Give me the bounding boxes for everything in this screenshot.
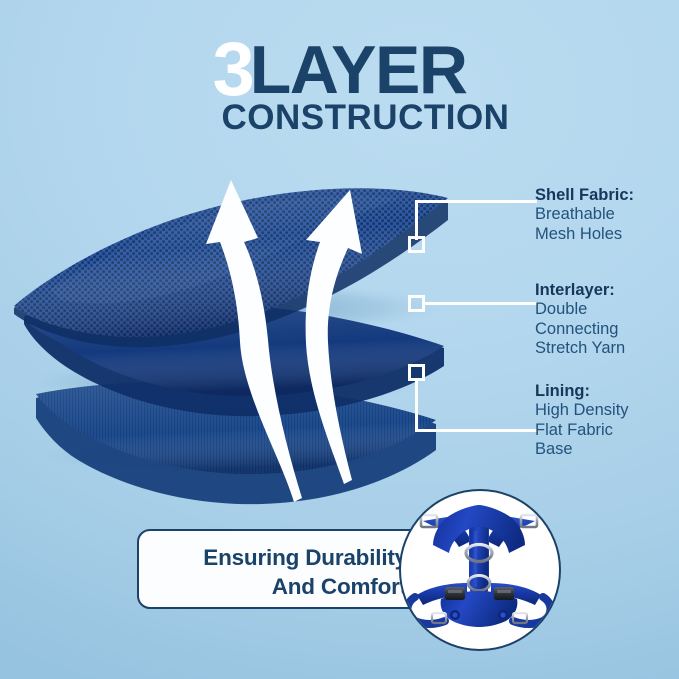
- callout-heading-lining: Lining:: [535, 382, 629, 401]
- tagline-line-1: Ensuring Durability: [203, 544, 407, 573]
- page-title: 3LAYER CONSTRUCTION: [0, 32, 679, 135]
- callout-desc-line: Double: [535, 300, 625, 319]
- infographic-canvas: 3LAYER CONSTRUCTION: [0, 0, 679, 679]
- callout-desc-line: Flat Fabric: [535, 421, 629, 440]
- callout-desc-line: Breathable: [535, 205, 634, 224]
- title-line-1: 3LAYER: [0, 32, 679, 108]
- harness-right-buckle: [494, 587, 514, 600]
- callout-desc-line: Stretch Yarn: [535, 339, 625, 358]
- tagline-banner: Ensuring Durability And Comfort: [137, 529, 427, 609]
- callout-heading-interlayer: Interlayer:: [535, 281, 625, 300]
- product-image-circle: [399, 489, 561, 651]
- callout-heading-shell-fabric: Shell Fabric:: [535, 186, 634, 205]
- title-subtitle: CONSTRUCTION: [0, 100, 679, 135]
- harness-strap-highlight: [474, 531, 477, 587]
- callout-leader-horizontal: [415, 429, 537, 432]
- fabric-layer-stack: [0, 150, 460, 510]
- callout-text-shell-fabric: Shell Fabric: Breathable Mesh Holes: [535, 186, 634, 244]
- callout-desc-line: Connecting: [535, 320, 625, 339]
- callout-desc-line: Mesh Holes: [535, 225, 634, 244]
- title-word: LAYER: [250, 32, 467, 108]
- callout-leader-vertical: [415, 200, 418, 240]
- callout-text-interlayer: Interlayer: Double Connecting Stretch Ya…: [535, 281, 625, 359]
- callout-leader-horizontal: [415, 200, 537, 203]
- tagline-line-2: And Comfort: [203, 573, 407, 602]
- callout-leader-horizontal: [423, 302, 537, 305]
- harness-left-buckle: [445, 587, 465, 600]
- dog-harness-illustration: [401, 491, 558, 648]
- callout-marker-lining: [408, 364, 425, 381]
- tagline-text: Ensuring Durability And Comfort: [203, 544, 407, 602]
- callout-desc-line: Base: [535, 440, 629, 459]
- callout-text-lining: Lining: High Density Flat Fabric Base: [535, 382, 629, 460]
- callout-leader-vertical: [415, 380, 418, 432]
- callout-desc-line: High Density: [535, 401, 629, 420]
